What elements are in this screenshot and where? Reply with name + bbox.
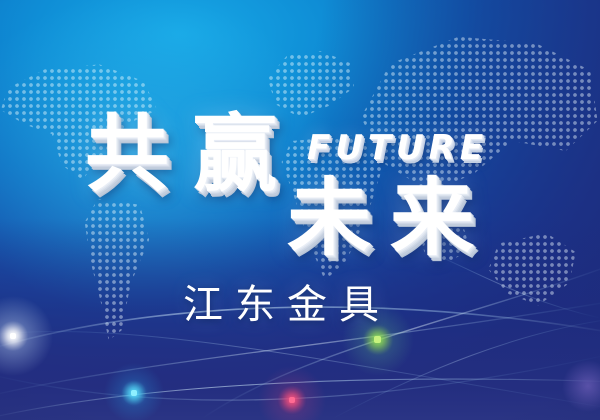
- headline-char-gong: 共: [85, 112, 169, 196]
- latin-word-future: FUTURE: [307, 128, 488, 168]
- headline-group: 共 赢 FUTURE 未 来 江东金具: [0, 0, 600, 420]
- headline-char-lai: 来: [390, 176, 474, 260]
- promo-banner: 共 赢 FUTURE 未 来 江东金具: [0, 0, 600, 420]
- company-subtitle: 江东金具: [183, 272, 391, 330]
- headline-char-ying: 赢: [193, 112, 277, 196]
- headline-char-wei: 未: [287, 176, 371, 260]
